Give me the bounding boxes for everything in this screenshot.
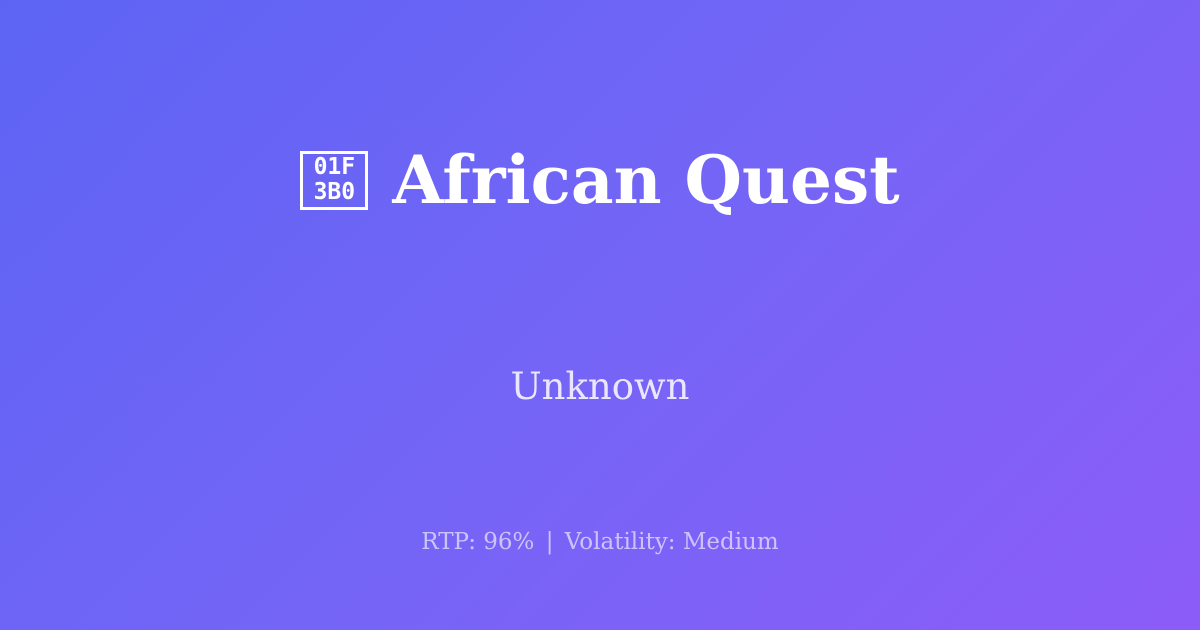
slot-machine-icon: 01F 3B0: [300, 151, 368, 210]
rtp-value: 96%: [483, 529, 534, 555]
game-title: African Quest: [392, 147, 899, 213]
codepoint-hex-top: 01F: [314, 155, 356, 180]
rtp-label: RTP:: [421, 529, 476, 555]
meta-separator: |: [542, 529, 558, 555]
volatility-value: Medium: [683, 529, 779, 555]
game-meta-line: RTP: 96% | Volatility: Medium: [0, 527, 1200, 557]
codepoint-hex-bottom: 3B0: [314, 180, 356, 205]
game-provider: Unknown: [0, 363, 1200, 411]
volatility-label: Volatility:: [565, 529, 676, 555]
title-line: 01F 3B0 African Quest: [300, 147, 899, 213]
title-block: 01F 3B0 African Quest: [0, 0, 1200, 360]
game-hero-card: 01F 3B0 African Quest Unknown RTP: 96% |…: [0, 0, 1200, 630]
